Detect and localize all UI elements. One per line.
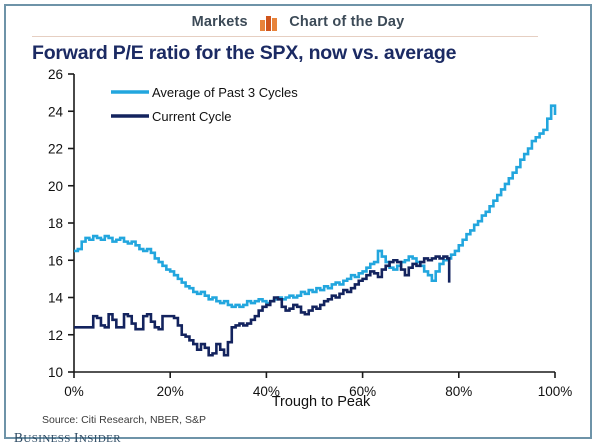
series-line-average-of-past-3-cycles [74, 106, 555, 307]
y-tick-label: 20 [48, 179, 63, 194]
brand-usiness: USINESS [23, 433, 74, 445]
x-axis-ticks [74, 372, 555, 378]
x-tick-label: 20% [157, 384, 184, 399]
brand-nsider: NSIDER [79, 433, 121, 445]
business-insider-logo: BUSINESS INSIDER [14, 430, 121, 446]
series-line-current-cycle [74, 257, 449, 356]
chart-legend: Average of Past 3 Cycles Current Cycle [111, 85, 298, 124]
y-tick-label: 14 [48, 291, 64, 306]
x-tick-label: 0% [64, 384, 84, 399]
chart-axes [68, 74, 555, 378]
y-tick-label: 10 [48, 365, 63, 380]
line-chart-svg: 101214161820222426 0%20%40%60%80%100% Tr… [6, 6, 594, 441]
x-tick-label: 100% [538, 384, 573, 399]
y-tick-label: 16 [48, 253, 63, 268]
y-tick-label: 22 [48, 142, 63, 157]
y-axis-tick-labels: 101214161820222426 [48, 67, 64, 380]
y-tick-label: 12 [48, 328, 63, 343]
chart-card: Markets Chart of the Day Forward P/E rat… [4, 4, 592, 439]
x-axis-title: Trough to Peak [272, 394, 371, 410]
y-axis-ticks [68, 74, 74, 372]
source-note: Source: Citi Research, NBER, S&P [42, 414, 206, 426]
legend-label-current: Current Cycle [152, 109, 231, 124]
legend-label-average: Average of Past 3 Cycles [152, 85, 298, 100]
x-tick-label: 80% [445, 384, 472, 399]
brand-b: B [14, 430, 23, 445]
y-tick-label: 18 [48, 216, 63, 231]
y-tick-label: 24 [48, 104, 64, 119]
chart-plot-area: 101214161820222426 0%20%40%60%80%100% Tr… [6, 6, 594, 441]
y-tick-label: 26 [48, 67, 63, 82]
